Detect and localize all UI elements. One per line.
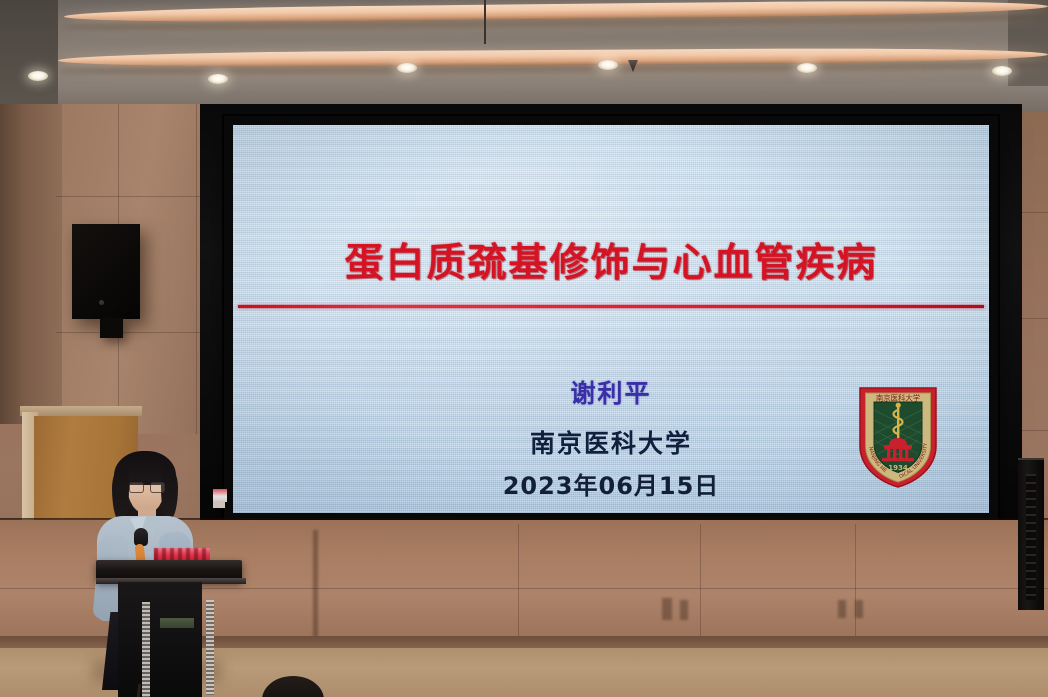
stage-scuff-mark [680,600,688,620]
wall-tile-seam [196,104,197,434]
slide-divider-rule [238,305,984,308]
stage-scuff-mark [662,598,672,620]
stage-tile-seam [855,524,856,640]
stage-scuff-mark [838,600,846,618]
presenter-hair-left [112,466,129,522]
slide-title: 蛋白质巯基修饰与心血管疾病 [232,232,990,288]
wall-tile-seam [56,196,206,197]
downlight-icon [797,63,817,73]
wall-speaker-icon [72,224,140,319]
stage-tile-seam [700,524,701,640]
ceiling-right-shadow [1008,0,1048,86]
wall-pilaster-left [0,104,62,424]
presenter-hair-right [161,466,178,520]
stage-tile-seam [518,524,519,640]
column-speaker-grille [1026,474,1036,600]
stage-cable-shadow [313,530,318,640]
wall-speaker-mount [100,318,123,338]
downlight-icon [208,74,228,84]
led-presentation-screen: 蛋白质巯基修饰与心血管疾病 谢利平 南京医科大学 2023年06月15日 [232,124,990,514]
podium-light-strip [142,602,150,697]
downlight-icon [992,66,1012,76]
wood-panel-frame [20,406,142,416]
podium-light-strip [206,600,214,695]
crest-chinese-name: 南京医科大学 [876,394,920,403]
wall-speaker-driver-icon [99,300,104,305]
speaking-podium [96,560,242,697]
stage-scuff-mark [855,600,863,618]
university-crest-logo: 南京医科大学 [856,382,940,490]
lecture-hall-scene: 蛋白质巯基修饰与心血管疾病 谢利平 南京医科大学 2023年06月15日 [0,0,1048,697]
glasses-icon [129,482,164,491]
downlight-icon [28,71,48,81]
downlight-icon [598,60,618,70]
ceiling-hanging-wire [484,0,486,44]
podium-control-plate [160,618,194,628]
downlight-icon [397,63,417,73]
podium-body [118,582,202,697]
crest-founded-year: 1934 [888,464,908,472]
wall-tile-seam [56,332,206,333]
